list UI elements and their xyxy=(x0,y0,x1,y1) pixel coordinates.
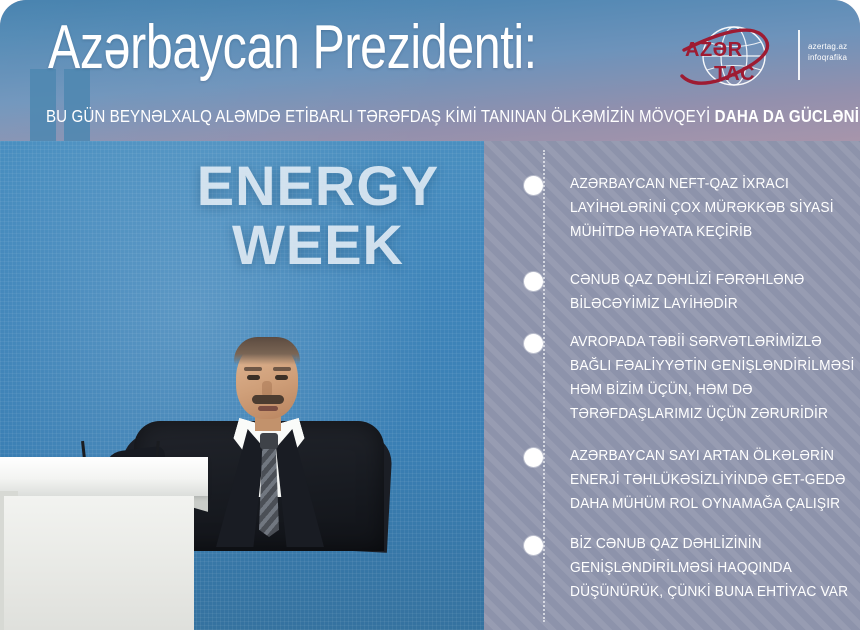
bullet-dot-icon xyxy=(524,334,543,353)
eye-right xyxy=(275,375,288,380)
podium-top xyxy=(0,457,208,496)
statement-line: MÜHİTDƏ HƏYATA KEÇİRİB xyxy=(570,220,855,244)
header-subtitle-strong: DAHA DA GÜCLƏNİR xyxy=(715,106,860,126)
statement-line: LAYİHƏLƏRİNİ ÇOX MÜRƏKKƏB SİYASİ xyxy=(570,196,855,220)
statement-text: AZƏRBAYCAN NEFT-QAZ İXRACILAYİHƏLƏRİNİ Ç… xyxy=(570,172,855,244)
bullet-dot-icon xyxy=(524,448,543,467)
screen-event-title-line1: ENERGY xyxy=(168,158,468,214)
mouth xyxy=(258,406,278,411)
timeline-dotted-line xyxy=(543,150,545,622)
svg-text:TAC: TAC xyxy=(714,63,755,85)
header-banner: Azərbaycan Prezidenti: BU GÜN BEYNƏLXALQ… xyxy=(0,0,860,141)
page-title: Azərbaycan Prezidenti: xyxy=(48,8,537,88)
eyebrow-right xyxy=(273,367,291,371)
logo-section-label: infoqrafika xyxy=(808,53,847,63)
header-subtitle: BU GÜN BEYNƏLXALQ ALƏMDƏ ETİBARLI TƏRƏFD… xyxy=(46,104,860,128)
statement-text: BİZ CƏNUB QAZ DƏHLİZİNİNGENİŞLƏNDİRİLMƏS… xyxy=(570,532,855,604)
statement-line: DAHA MÜHÜM ROL OYNAMAĞA ÇALIŞIR xyxy=(570,492,855,516)
striped-tie xyxy=(259,447,279,537)
statement-line: AVROPADA TƏBİİ SƏRVƏTLƏRİMİZLƏ xyxy=(570,330,855,354)
statement-text: CƏNUB QAZ DƏHLİZİ FƏRƏHLƏNƏBİLƏCƏYİMİZ L… xyxy=(570,268,855,316)
azertac-logo[interactable]: AZƏR TAC azertag.az infoqrafika xyxy=(678,16,838,96)
eye-left xyxy=(247,375,260,380)
statement-line: BİLƏCƏYİMİZ LAYİHƏDİR xyxy=(570,292,855,316)
statement-line: HƏM BİZİM ÜÇÜN, HƏM DƏ xyxy=(570,378,855,402)
statement-line: AZƏRBAYCAN SAYI ARTAN ÖLKƏLƏRİN xyxy=(570,444,855,468)
bullet-dot-icon xyxy=(524,272,543,291)
header-subtitle-normal: BU GÜN BEYNƏLXALQ ALƏMDƏ ETİBARLI TƏRƏFD… xyxy=(46,106,715,126)
hair xyxy=(234,337,300,365)
statement-line: ENERJİ TƏHLÜKƏSİZLİYİNDƏ GET-GEDƏ xyxy=(570,468,855,492)
statement-line: CƏNUB QAZ DƏHLİZİ FƏRƏHLƏNƏ xyxy=(570,268,855,292)
azertac-globe-icon: AZƏR TAC xyxy=(678,24,790,88)
statement-line: TƏRƏFDAŞLARIMIZ ÜÇÜN ZƏRURİDİR xyxy=(570,402,855,426)
podium-body xyxy=(4,496,194,630)
eyebrow-left xyxy=(244,367,262,371)
statement-text: AVROPADA TƏBİİ SƏRVƏTLƏRİMİZLƏBAĞLI FƏAL… xyxy=(570,330,855,426)
statement-line: AZƏRBAYCAN NEFT-QAZ İXRACI xyxy=(570,172,855,196)
svg-text:AZƏR: AZƏR xyxy=(685,39,743,61)
logo-divider xyxy=(798,30,800,80)
statement-text: AZƏRBAYCAN SAYI ARTAN ÖLKƏLƏRİNENERJİ TƏ… xyxy=(570,444,855,516)
bullet-dot-icon xyxy=(524,176,543,195)
moustache xyxy=(252,395,284,404)
screen-event-title-line2: WEEK xyxy=(168,214,468,276)
statement-line: GENİŞLƏNDİRİLMƏSİ HAQQINDA xyxy=(570,556,855,580)
bullet-dot-icon xyxy=(524,536,543,555)
logo-site-label: azertag.az xyxy=(808,42,847,52)
infographic-poster: Azərbaycan Prezidenti: BU GÜN BEYNƏLXALQ… xyxy=(0,0,860,630)
screen-event-title: ENERGY WEEK xyxy=(168,158,468,276)
statement-line: BAĞLI FƏALİYYƏTİN GENİŞLƏNDİRİLMƏSİ xyxy=(570,354,855,378)
president-photo: ENERGY WEEK xyxy=(0,141,484,630)
tie-knot xyxy=(260,433,278,449)
statement-line: DÜŞÜNÜRÜK, ÇÜNKİ BUNA EHTİYAC VAR xyxy=(570,580,855,604)
statement-line: BİZ CƏNUB QAZ DƏHLİZİNİN xyxy=(570,532,855,556)
